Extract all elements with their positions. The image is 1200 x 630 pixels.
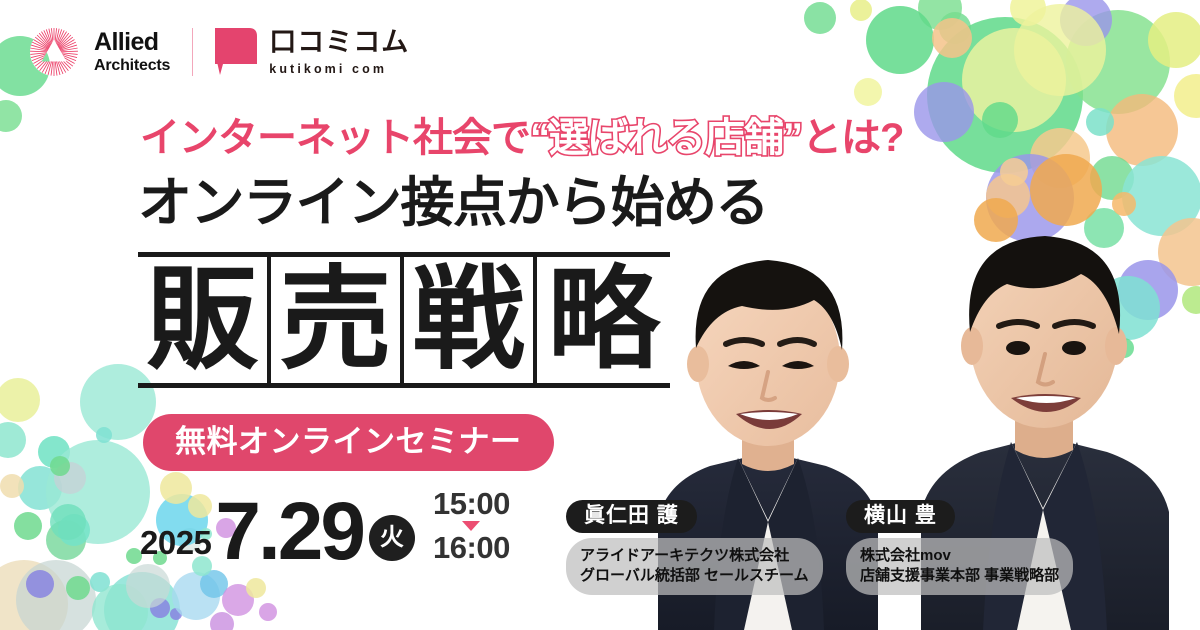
decor-bubble-45 [14,512,42,540]
speaker-1-affiliation: アライドアーキテクツ株式会社 グローバル統括部 セールスチーム [566,538,823,595]
quoted-text: 選ばれる店舗 [549,116,783,160]
event-time-start: 15:00 [433,488,510,520]
event-year: 2025 [140,526,211,565]
kutikomi-logo: 口コミコム kutikomi com [215,28,409,76]
main-headline: オンライン接点から始める [138,176,768,230]
decor-bubble-51 [26,570,54,598]
allied-radial-triangle-icon [28,26,80,78]
big-boxed-word: 販 売 戦 略 [138,252,670,388]
decor-bubble-47 [58,514,90,546]
event-time-end: 16:00 [433,532,510,564]
logo-divider [192,28,193,76]
big-char-2: 戦 [404,257,537,383]
decor-bubble-46 [46,520,86,560]
allied-line1: Allied [94,30,170,55]
decor-bubble-8 [939,12,971,44]
quote-close: ” [783,116,802,160]
decor-bubble-22 [962,28,1066,132]
decor-bubble-1 [1066,10,1170,114]
decor-bubble-25 [854,78,882,106]
big-char-3: 略 [537,257,670,383]
decor-bubble-43 [46,440,150,544]
decor-bubble-17 [918,0,962,30]
kutikomi-jp: 口コミコム [269,29,409,56]
speaker-2-affiliation: 株式会社mov 店舗支援事業本部 事業戦略部 [846,538,1073,595]
decor-bubble-5 [1090,156,1134,200]
seminar-banner: Allied Architects 口コミコム kutikomi com インタ… [0,0,1200,630]
speaker-1-name: 眞仁田 護 [566,500,697,533]
decor-bubble-53 [90,572,110,592]
decor-bubble-65 [210,612,234,630]
decor-bubble-38 [0,422,26,458]
decor-bubble-44 [54,462,86,494]
decor-bubble-2 [1148,12,1200,68]
decor-bubble-21 [850,0,872,21]
event-date-row: 2025 7.29 火 15:00 16:00 [140,488,510,565]
quote-open: “ [530,116,549,160]
decor-bubble-41 [18,466,62,510]
decor-bubble-55 [92,584,148,630]
allied-architects-wordmark: Allied Architects [94,30,170,74]
kicker-pre: インターネット社会で [140,116,530,160]
speaker-2-department: 店舗支援事業本部 事業戦略部 [860,566,1059,586]
decor-bubble-31 [1000,158,1028,186]
decor-bubble-36 [0,100,22,132]
decor-bubble-60 [126,564,170,608]
logo-row: Allied Architects 口コミコム kutikomi com [28,26,409,78]
decor-bubble-40 [38,436,70,468]
kicker-post: とは? [802,116,903,160]
event-time-block: 15:00 16:00 [433,488,510,563]
decor-bubble-49 [0,560,68,630]
speaker-2-company: 株式会社mov [860,546,1059,566]
kicker-quoted: “選ばれる店舗” [530,116,802,160]
decor-bubble-19 [932,18,972,58]
decor-bubble-24 [914,82,974,142]
decor-bubble-34 [1086,108,1114,136]
decor-bubble-23 [1014,4,1106,96]
decor-bubble-56 [150,598,170,618]
speaker-2-name: 横山 豊 [846,500,955,533]
decor-bubble-48 [50,504,86,540]
decor-bubble-52 [66,576,90,600]
decor-bubble-63 [222,584,254,616]
decor-bubble-20 [804,2,836,34]
big-char-0: 販 [138,257,271,383]
day-of-week-badge: 火 [369,515,415,561]
decor-bubble-72 [50,456,70,476]
decor-bubble-66 [259,603,277,621]
decor-bubble-6 [1060,0,1112,46]
decor-bubble-73 [96,427,112,443]
free-seminar-badge: 無料オンラインセミナー [143,414,554,471]
decor-bubble-64 [246,578,266,598]
decor-bubble-7 [1010,0,1046,26]
speaker-caption-1: 眞仁田 護 アライドアーキテクツ株式会社 グローバル統括部 セールスチーム [566,500,846,595]
decor-bubble-26 [982,102,1018,138]
kutikomi-en: kutikomi com [269,63,409,76]
decor-bubble-42 [0,474,24,498]
kutikomi-wordmark: 口コミコム kutikomi com [269,29,409,76]
speaker-caption-2: 横山 豊 株式会社mov 店舗支援事業本部 事業戦略部 [846,500,1126,595]
decor-bubble-9 [1174,74,1200,118]
big-char-1: 売 [271,257,404,383]
decor-bubble-50 [16,560,96,630]
decor-bubble-37 [0,378,40,422]
speaker-1-company: アライドアーキテクツ株式会社 [580,546,809,566]
kicker-headline: インターネット社会で“選ばれる店舗”とは? [140,118,903,158]
decor-bubble-54 [104,572,180,630]
decor-bubble-0 [927,17,1083,173]
decor-bubble-18 [866,6,934,74]
decor-bubble-3 [1106,94,1178,166]
speech-bubble-icon [215,28,257,76]
decor-bubble-57 [170,608,182,620]
speaker-1-department: グローバル統括部 セールスチーム [580,566,809,586]
decor-bubble-4 [1030,128,1090,188]
allied-line2: Architects [94,58,170,74]
event-month-day: 7.29 [215,498,363,565]
decor-bubble-59 [172,572,220,620]
